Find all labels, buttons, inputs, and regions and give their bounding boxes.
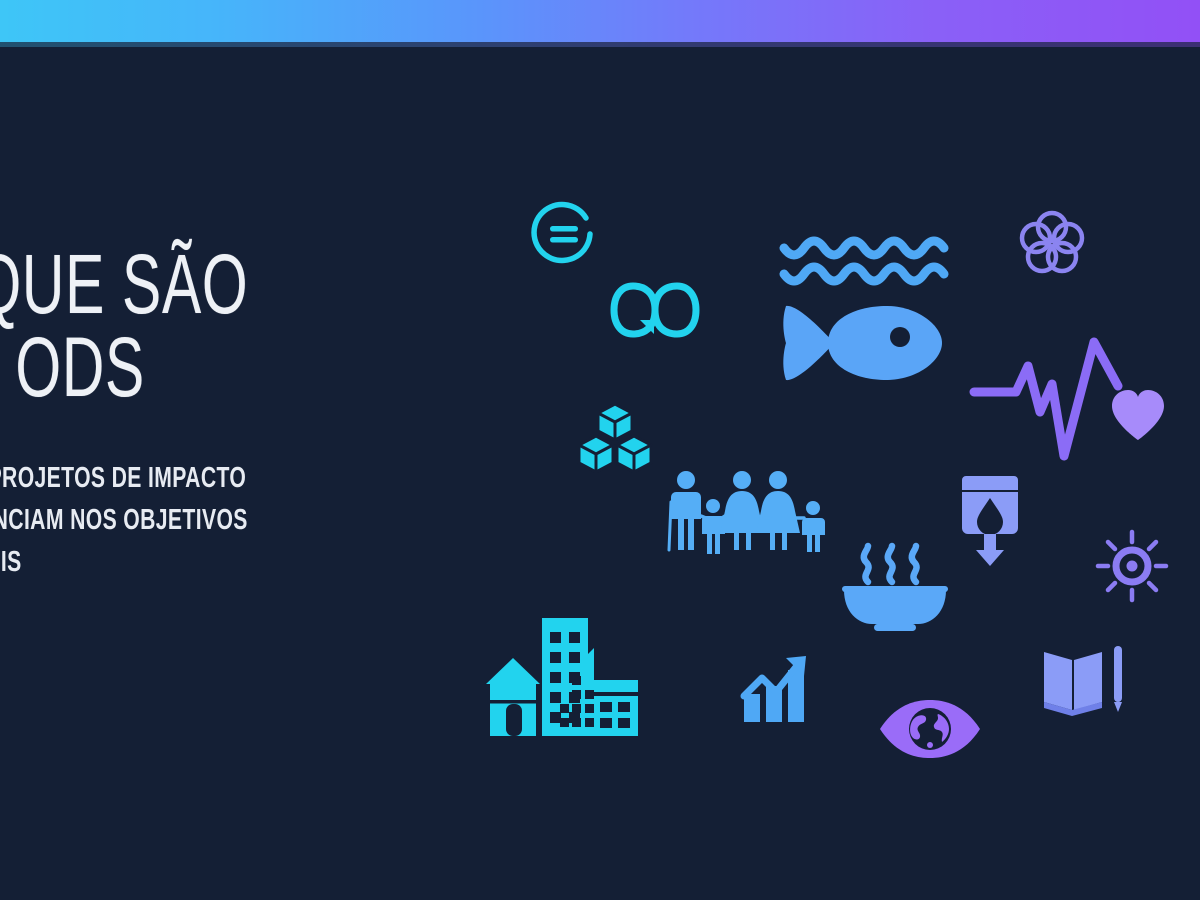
page-subtitle: COMO PROJETOS DE IMPACTOINFLUENCIAM NOS … <box>0 457 283 583</box>
flower-rosette-icon <box>1014 206 1090 282</box>
family-group-icon <box>668 468 820 552</box>
fish-icon <box>776 300 948 386</box>
subhead-line-3: MUNDIAIS <box>0 546 22 578</box>
gradient-accent-bar-shadow <box>0 42 1200 47</box>
poster-canvas: O QUE SÃOOS ODS COMO PROJETOS DE IMPACTO… <box>0 0 1200 900</box>
headline-line-1: O QUE SÃO <box>0 237 248 331</box>
heartbeat-pulse-icon <box>972 336 1172 466</box>
equality-circle-icon <box>528 196 600 268</box>
subhead-line-1: COMO PROJETOS DE IMPACTO <box>0 462 246 494</box>
cubes-icon <box>576 402 654 474</box>
water-waves-icon <box>782 234 946 290</box>
soup-bowl-icon <box>840 540 950 636</box>
subhead-line-2: INFLUENCIAM NOS OBJETIVOS <box>0 504 248 536</box>
infinity-loop-icon <box>608 278 702 342</box>
sun-energy-icon <box>1096 530 1168 602</box>
city-buildings-icon <box>480 614 658 740</box>
open-book-icon <box>1040 642 1126 722</box>
page-title: O QUE SÃOOS ODS <box>0 243 268 409</box>
gradient-accent-bar <box>0 0 1200 42</box>
growth-chart-icon <box>738 648 814 724</box>
text-block: O QUE SÃOOS ODS COMO PROJETOS DE IMPACTO… <box>0 243 420 583</box>
headline-line-2: OS ODS <box>0 320 145 414</box>
water-filter-icon <box>958 472 1022 568</box>
eye-globe-icon <box>878 698 982 760</box>
